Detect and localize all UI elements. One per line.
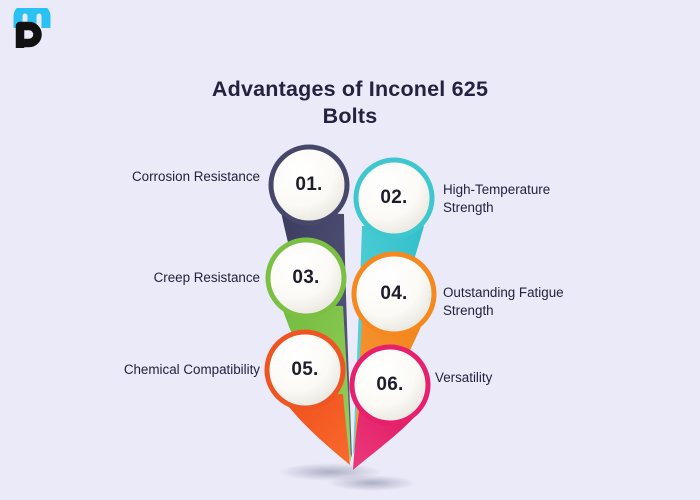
- pin-label-04: Outstanding Fatigue Strength: [443, 284, 608, 319]
- pin-circle-05[interactable]: [267, 332, 343, 408]
- pin-diagram: [0, 0, 700, 500]
- pin-label-01: Corrosion Resistance: [60, 168, 260, 186]
- pin-label-06: Versatility: [435, 369, 595, 387]
- pin-circle-06[interactable]: [352, 347, 428, 423]
- pin-circle-03[interactable]: [268, 240, 344, 316]
- pin-shadow: [328, 475, 416, 491]
- pin-label-03: Creep Resistance: [60, 269, 260, 287]
- pin-label-05: Chemical Compatibility: [55, 361, 260, 379]
- pin-label-02: High-Temperature Strength: [443, 181, 603, 216]
- pin-circle-02[interactable]: [356, 160, 432, 236]
- infographic-canvas: Advantages of Inconel 625 Bolts: [0, 0, 700, 500]
- pin-circle-04[interactable]: [354, 254, 434, 334]
- pin-circle-01[interactable]: [271, 147, 347, 223]
